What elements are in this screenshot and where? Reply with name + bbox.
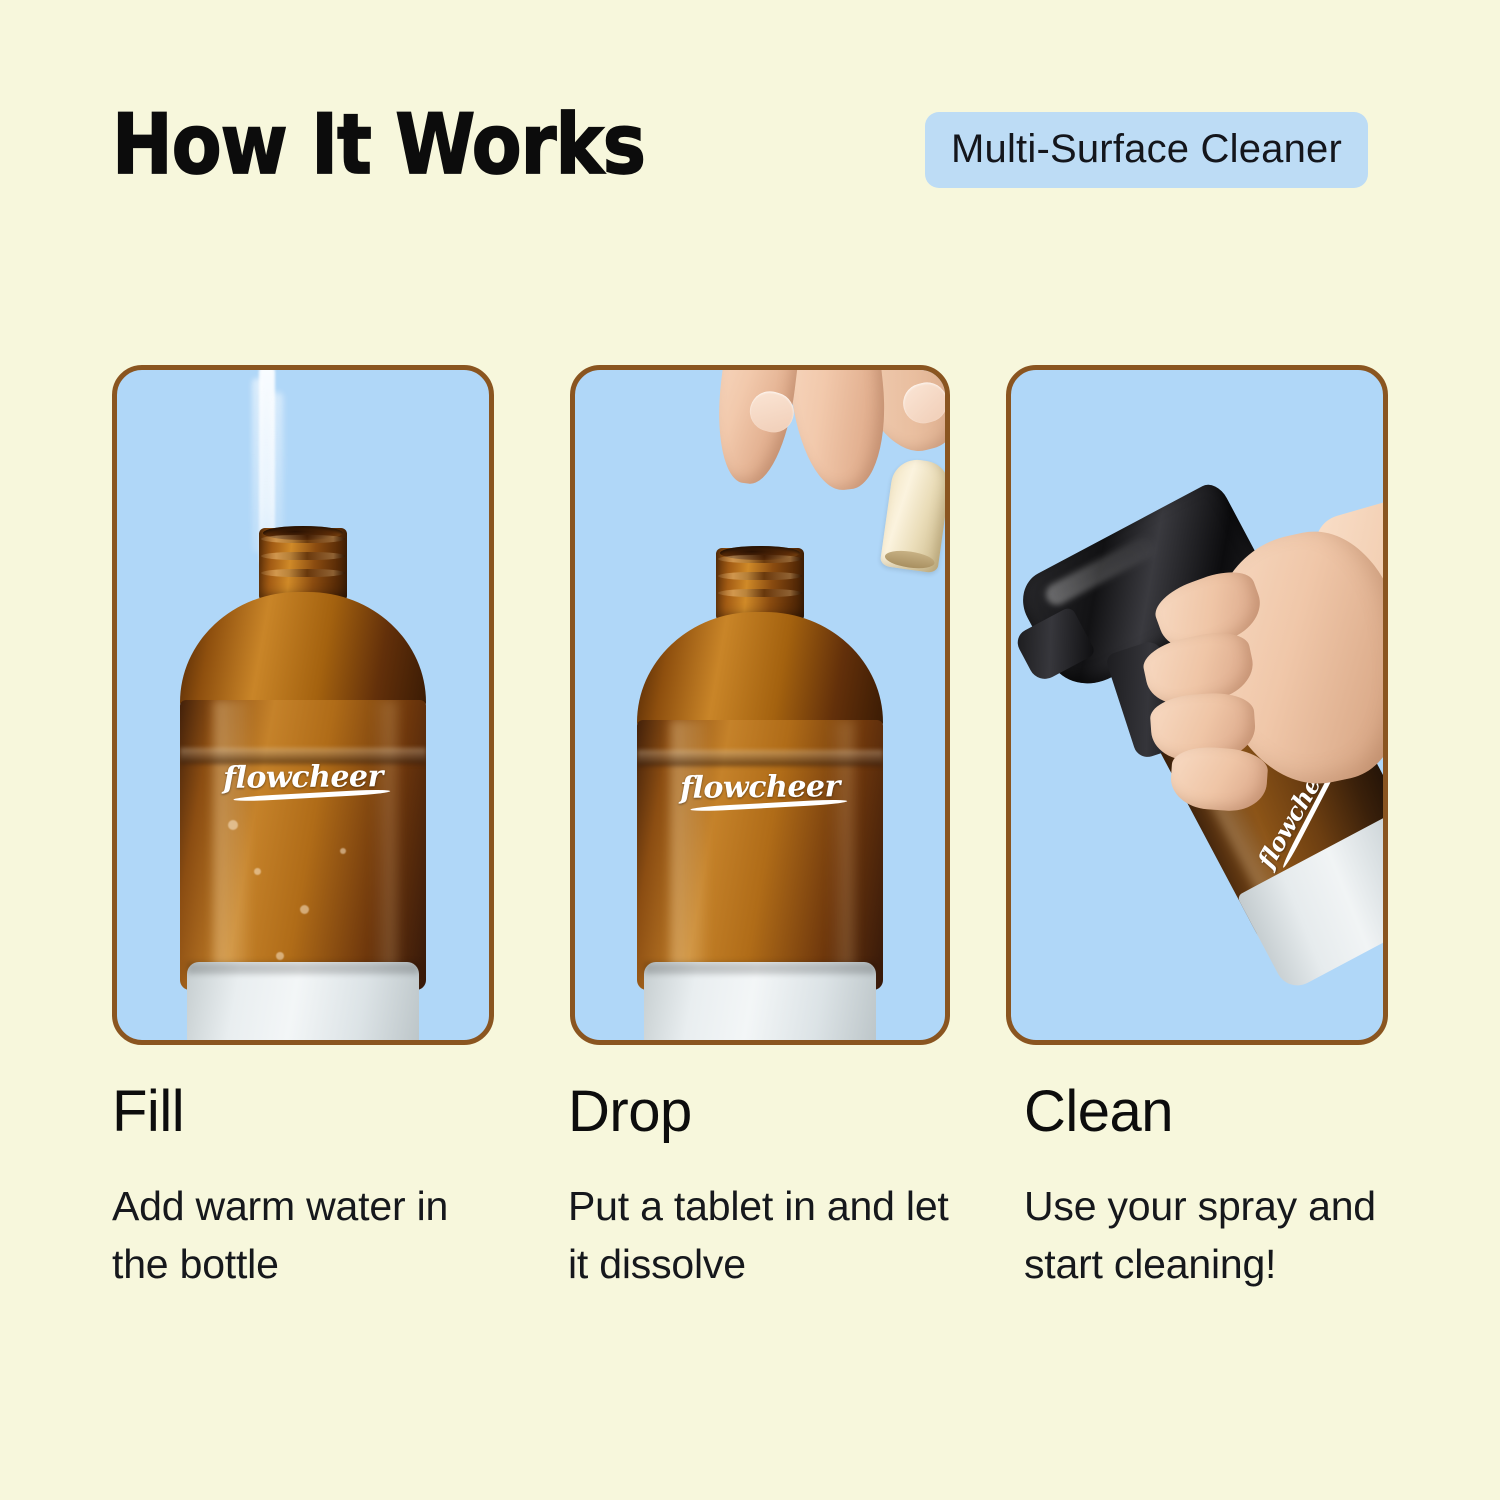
step-drop-photo: flowcheer — [570, 365, 950, 1045]
bottle-silicone-base — [187, 962, 419, 1045]
bubble — [228, 820, 238, 830]
step-heading: Drop — [568, 1082, 968, 1143]
bottle-neck — [716, 548, 804, 620]
caption-clean: Clean Use your spray and start cleaning! — [1024, 1082, 1424, 1293]
bottle-thread — [718, 572, 802, 580]
bubble — [300, 905, 309, 914]
step-clean: flowcheer — [1006, 365, 1388, 1045]
amber-bottle-graphic: flowcheer — [575, 370, 945, 1040]
bubble — [340, 848, 346, 854]
bottle-thread — [261, 569, 345, 577]
step-fill-photo: flowcheer — [112, 365, 494, 1045]
finger — [1169, 745, 1269, 814]
brand-logo: flowcheer — [680, 769, 840, 806]
step-description: Add warm water in the bottle — [112, 1177, 512, 1293]
bottle-shoulder — [180, 592, 426, 712]
infographic-page: How It Works Multi-Surface Cleaner — [0, 0, 1500, 1500]
bottle-neck — [259, 528, 347, 600]
bottle-highlight-right — [374, 700, 396, 990]
step-heading: Clean — [1024, 1082, 1424, 1143]
bubble — [276, 952, 284, 960]
bottle-shoulder — [637, 612, 883, 732]
bottle-thread — [718, 589, 802, 597]
bottle-thread — [261, 552, 345, 560]
bottle-waterline — [637, 750, 883, 766]
caption-fill: Fill Add warm water in the bottle — [112, 1082, 512, 1293]
step-drop: flowcheer — [570, 365, 952, 1045]
spray-bottle-scene: flowcheer — [1011, 370, 1383, 1040]
step-clean-photo: flowcheer — [1006, 365, 1388, 1045]
bubble — [254, 868, 261, 875]
bottle-silicone-base — [644, 962, 876, 1045]
bottle-highlight — [214, 700, 250, 990]
hand-graphic — [1161, 560, 1388, 860]
step-fill: flowcheer — [112, 365, 494, 1045]
brand-logo: flowcheer — [223, 759, 383, 796]
caption-drop: Drop Put a tablet in and let it dissolve — [568, 1082, 968, 1293]
bottle-body — [637, 720, 883, 990]
amber-bottle-graphic: flowcheer — [117, 370, 489, 1040]
step-description: Put a tablet in and let it dissolve — [568, 1177, 968, 1293]
bottle-body — [180, 700, 426, 990]
step-description: Use your spray and start cleaning! — [1024, 1177, 1424, 1293]
bottle-thread — [261, 535, 345, 543]
bottle-thread — [718, 555, 802, 563]
step-heading: Fill — [112, 1082, 512, 1143]
